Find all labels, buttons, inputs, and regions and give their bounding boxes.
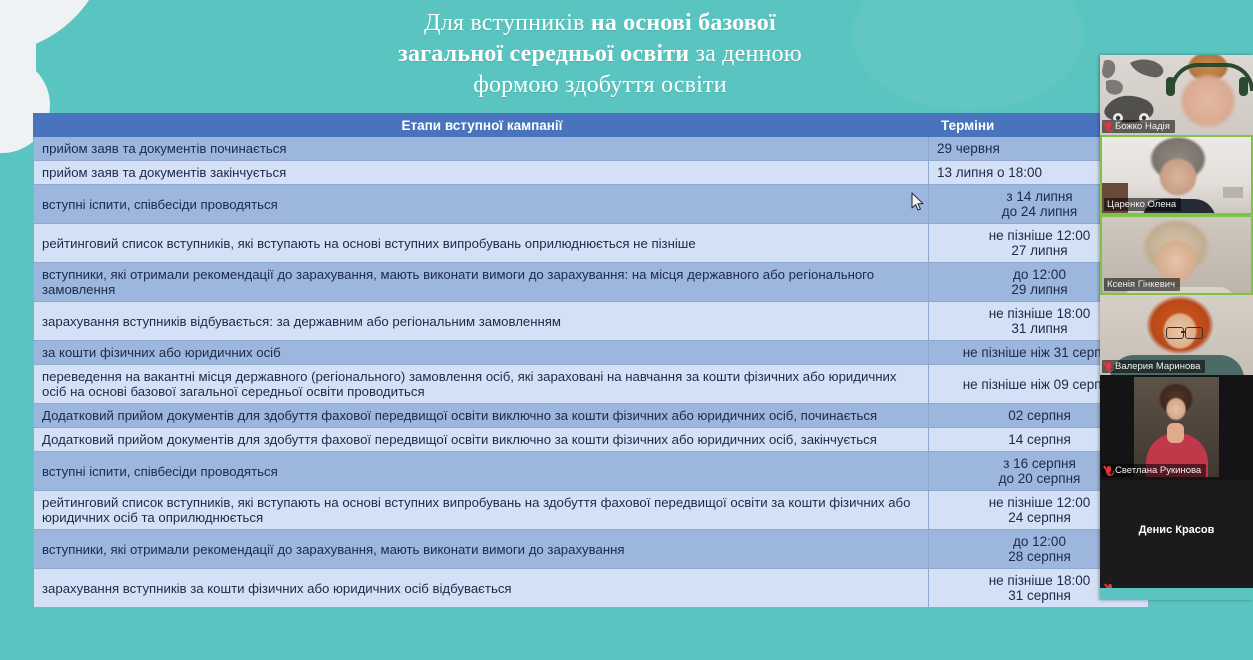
- participant-name: Валерия Маринова: [1115, 361, 1200, 372]
- table-row: Додатковий прийом документів для здобутт…: [34, 404, 1149, 428]
- cell-stage: переведення на вакантні місця державного…: [34, 365, 929, 404]
- table-row: зарахування вступників відбувається: за …: [34, 302, 1149, 341]
- title-line-1-normal: Для вступників: [424, 10, 591, 36]
- cell-stage: за кошти фізичних або юридичних осіб: [34, 341, 929, 365]
- cell-stage: вступні іспити, співбесіди проводяться: [34, 185, 929, 224]
- table-row: Додатковий прийом документів для здобутт…: [34, 428, 1149, 452]
- headset-earcup-right: [1239, 77, 1248, 96]
- participant-name: Божко Надія: [1115, 121, 1170, 132]
- title-line-2-normal: за денною: [689, 41, 802, 67]
- microphone-muted-icon: [1105, 362, 1112, 372]
- table-row: вступники, які отримали рекомендації до …: [34, 530, 1149, 569]
- video-tile-participant-4[interactable]: Валерия Маринова: [1100, 295, 1253, 375]
- title-line-1-bold: на основі базової: [591, 10, 776, 36]
- table-row: рейтинговий список вступників, які вступ…: [34, 224, 1149, 263]
- video-feed: [1134, 377, 1219, 477]
- filmstrip-footer: [1100, 588, 1253, 600]
- cell-stage: Додатковий прийом документів для здобутт…: [34, 428, 929, 452]
- cell-stage: прийом заяв та документів починається: [34, 137, 929, 161]
- cell-stage: Додатковий прийом документів для здобутт…: [34, 404, 929, 428]
- video-tile-participant-6[interactable]: Денис Красов: [1100, 480, 1253, 600]
- table-row: рейтинговий список вступників, які вступ…: [34, 491, 1149, 530]
- table-row: переведення на вакантні місця державного…: [34, 365, 1149, 404]
- participant-name: Царенко Олена: [1107, 199, 1176, 210]
- video-tile-participant-5[interactable]: Светлана Рукинова: [1100, 375, 1253, 480]
- participant-name-badge: Светлана Рукинова: [1102, 464, 1206, 477]
- slide-title: Для вступників на основі базової загальн…: [160, 8, 1040, 101]
- table-row: вступні іспити, співбесіди проводятьсяз …: [34, 452, 1149, 491]
- title-line-2-bold: загальної середньої освіти: [398, 41, 689, 67]
- participant-name: Денис Красов: [1100, 524, 1253, 536]
- title-line-3: формою здобуття освіти: [473, 72, 727, 98]
- participant-hand: [1167, 423, 1184, 443]
- cell-stage: рейтинговий список вступників, які вступ…: [34, 224, 929, 263]
- headset-earcup-left: [1166, 77, 1175, 96]
- cell-stage: вступні іспити, співбесіди проводяться: [34, 452, 929, 491]
- participant-name: Светлана Рукинова: [1115, 465, 1201, 476]
- table-row: вступники, які отримали рекомендації до …: [34, 263, 1149, 302]
- zoom-video-filmstrip[interactable]: Божко Надія Царенко Олена Ксенія Гінкеви…: [1100, 55, 1253, 600]
- cell-stage: зарахування вступників за кошти фізичних…: [34, 569, 929, 608]
- eyeglasses-lens-right: [1185, 327, 1203, 339]
- table-row: прийом заяв та документів закінчується13…: [34, 161, 1149, 185]
- video-tile-participant-2[interactable]: Царенко Олена: [1100, 135, 1253, 215]
- microphone-muted-icon: [1105, 466, 1112, 476]
- table-body: прийом заяв та документів починається29 …: [34, 137, 1149, 608]
- presentation-slide: Для вступників на основі базової загальн…: [0, 0, 1253, 660]
- video-tile-participant-1[interactable]: Божко Надія: [1100, 55, 1253, 135]
- participant-name-badge: Валерия Маринова: [1102, 360, 1205, 373]
- table-header-row: Етапи вступної кампанії Терміни: [34, 114, 1149, 137]
- microphone-muted-icon: [1105, 122, 1112, 132]
- cell-stage: рейтинговий список вступників, які вступ…: [34, 491, 929, 530]
- participant-name-badge: Божко Надія: [1102, 120, 1175, 133]
- participant-name: Ксенія Гінкевич: [1107, 279, 1175, 290]
- table-row: зарахування вступників за кошти фізичних…: [34, 569, 1149, 608]
- video-tile-participant-3[interactable]: Ксенія Гінкевич: [1100, 215, 1253, 295]
- background-shelf: [1223, 187, 1243, 198]
- cell-stage: зарахування вступників відбувається: за …: [34, 302, 929, 341]
- eyeglasses-bridge: [1181, 331, 1186, 333]
- eyeglasses-lens-left: [1166, 327, 1184, 339]
- participant-name-badge: Ксенія Гінкевич: [1104, 278, 1180, 291]
- cell-stage: вступники, які отримали рекомендації до …: [34, 530, 929, 569]
- participant-name-badge: Царенко Олена: [1104, 198, 1181, 211]
- column-header-stages: Етапи вступної кампанії: [34, 114, 929, 137]
- table-row: прийом заяв та документів починається29 …: [34, 137, 1149, 161]
- table-row: вступні іспити, співбесіди проводятьсяз …: [34, 185, 1149, 224]
- cell-stage: вступники, які отримали рекомендації до …: [34, 263, 929, 302]
- admission-schedule-table: Етапи вступної кампанії Терміни прийом з…: [33, 113, 1149, 608]
- table-row: за кошти фізичних або юридичних осібне п…: [34, 341, 1149, 365]
- cell-stage: прийом заяв та документів закінчується: [34, 161, 929, 185]
